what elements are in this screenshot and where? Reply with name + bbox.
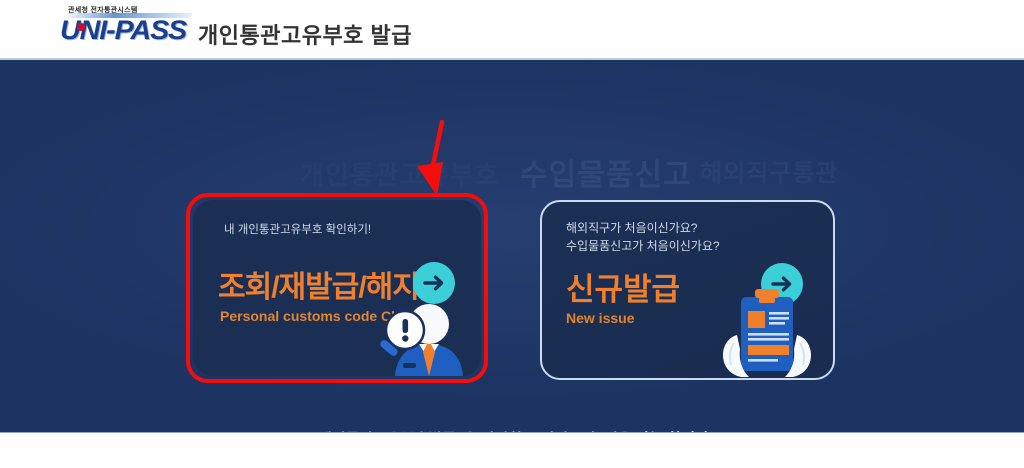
background-vignette [0,60,1024,432]
page-title: 개인통관고유부호 발급 [198,18,412,50]
watermark-text-1: 수입물품신고 [520,150,692,194]
card-right-english: New issue [566,310,634,326]
unipass-logo[interactable]: 관세청 전자통관시스템 UNI-PASS [60,4,195,52]
watermark-text-3: 개인통관고유부호 [300,155,499,192]
card-personal-code-check[interactable]: 내 개인통관고유부호 확인하기! 조회/재발급/해지 Personal cust… [193,200,481,376]
card-left-subtitle: 내 개인통관고유부호 확인하기! [224,222,371,239]
person-magnifier-icon [357,286,477,376]
page-footer [0,432,1024,468]
page-header: 관세청 전자통관시스템 UNI-PASS 개인통관고유부호 발급 [0,0,1024,60]
card-right-title: 신규발급 [566,264,680,309]
app-screen: 관세청 전자통관시스템 UNI-PASS 개인통관고유부호 발급 개인통관고유부… [0,0,1024,468]
card-right-subtitle-line2: 수입물품신고가 처음이신가요? [566,238,720,255]
card-right-subtitle-line1: 해외직구가 처음이신가요? [566,220,697,237]
watermark-text-2: 해외직구통관 [700,153,838,188]
main-navy-panel: 개인통관고유부호 수입물품신고 해외직구통관 내 개인통관고유부호 확인하기! … [0,60,1024,432]
card-new-issue[interactable]: 해외직구가 처음이신가요? 수입물품신고가 처음이신가요? 신규발급 New i… [540,200,835,380]
logo-red-dot-icon [77,23,85,31]
hands-clipboard-icon [707,283,827,378]
